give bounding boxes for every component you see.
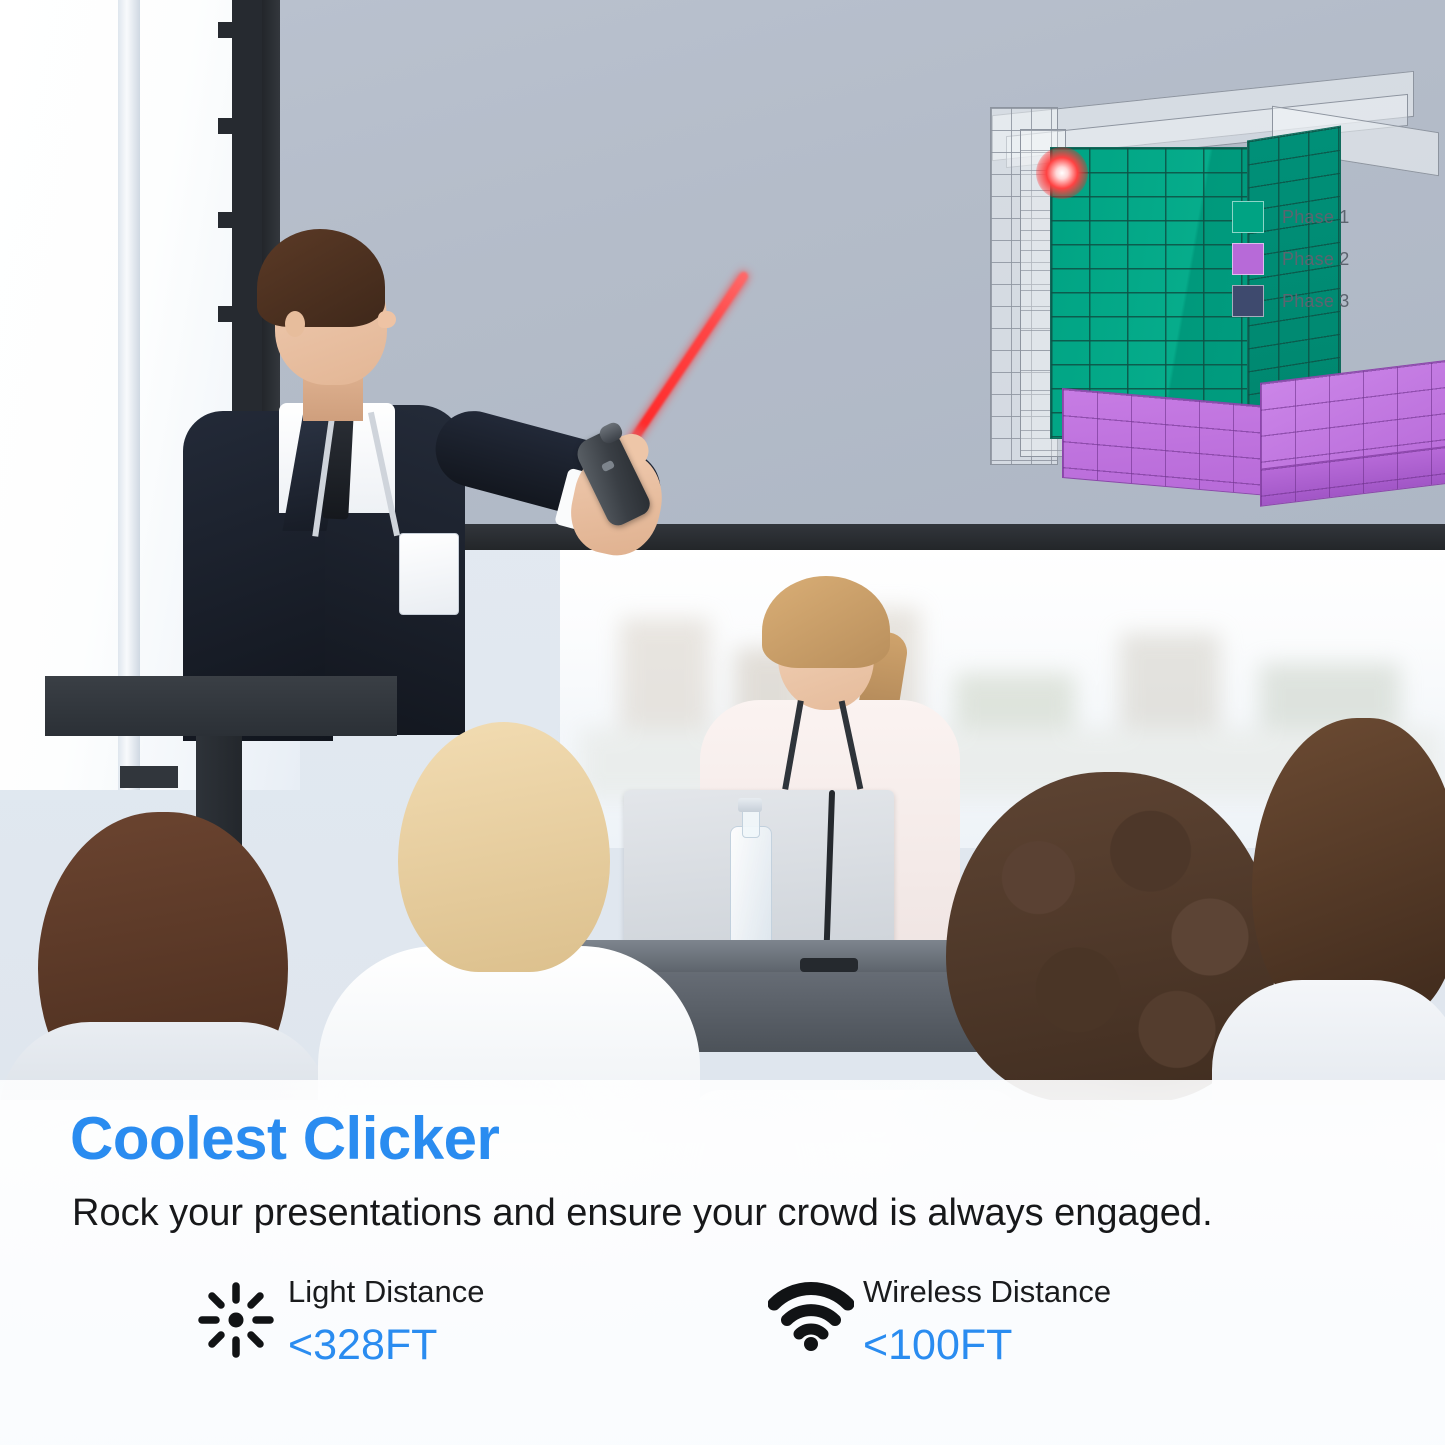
microphone-base [800, 958, 858, 972]
legend-swatch-phase2 [1232, 243, 1264, 275]
legend-label-phase2: Phase 2 [1282, 249, 1349, 270]
water-bottle-cap [738, 798, 762, 812]
legend-item: Phase 1 [1232, 196, 1392, 238]
bracket-notch-1 [218, 22, 238, 38]
legend-label-phase3: Phase 3 [1282, 291, 1349, 312]
laser-dot [1036, 147, 1088, 199]
feature-light-label: Light Distance [288, 1276, 484, 1309]
lectern-foot [120, 766, 178, 788]
feature-light-distance: Light Distance <328FT [190, 1276, 765, 1370]
legend-swatch-phase3 [1232, 285, 1264, 317]
lectern-top [45, 676, 397, 736]
product-marketing-image: Phase 1 Phase 2 Phase 3 [0, 0, 1445, 1445]
product-headline: Coolest Clicker [70, 1104, 499, 1173]
product-info-panel: Coolest Clicker Rock your presentations … [0, 1080, 1445, 1445]
feature-wireless-label: Wireless Distance [863, 1276, 1111, 1309]
legend-item: Phase 3 [1232, 280, 1392, 322]
wifi-icon [765, 1276, 857, 1352]
presenter-person [175, 215, 595, 735]
presenter-id-badge [399, 533, 459, 615]
presenter-ear [285, 311, 305, 337]
presenter-nose [378, 311, 396, 328]
window-mullion [118, 0, 140, 790]
legend-label-phase1: Phase 1 [1282, 207, 1349, 228]
model-legend: Phase 1 Phase 2 Phase 3 [1232, 196, 1392, 322]
feature-wireless-value: <100FT [863, 1321, 1111, 1370]
product-subheadline: Rock your presentations and ensure your … [72, 1192, 1213, 1235]
legend-item: Phase 2 [1232, 238, 1392, 280]
presenter-hair [257, 229, 385, 327]
feature-wireless-distance: Wireless Distance <100FT [765, 1276, 1111, 1370]
feature-light-text: Light Distance <328FT [282, 1276, 484, 1370]
conference-scene-photo: Phase 1 Phase 2 Phase 3 [0, 0, 1445, 1100]
feature-light-value: <328FT [288, 1321, 484, 1370]
panel-content: Coolest Clicker Rock your presentations … [0, 1080, 1445, 1445]
legend-swatch-phase1 [1232, 201, 1264, 233]
feature-list: Light Distance <328FT [190, 1276, 1290, 1370]
feature-wireless-text: Wireless Distance <100FT [857, 1276, 1111, 1370]
podium-grid-left [1063, 389, 1268, 495]
brightness-sun-icon [190, 1276, 282, 1358]
bracket-notch-2 [218, 118, 238, 134]
podium-phase2-left [1062, 388, 1269, 496]
